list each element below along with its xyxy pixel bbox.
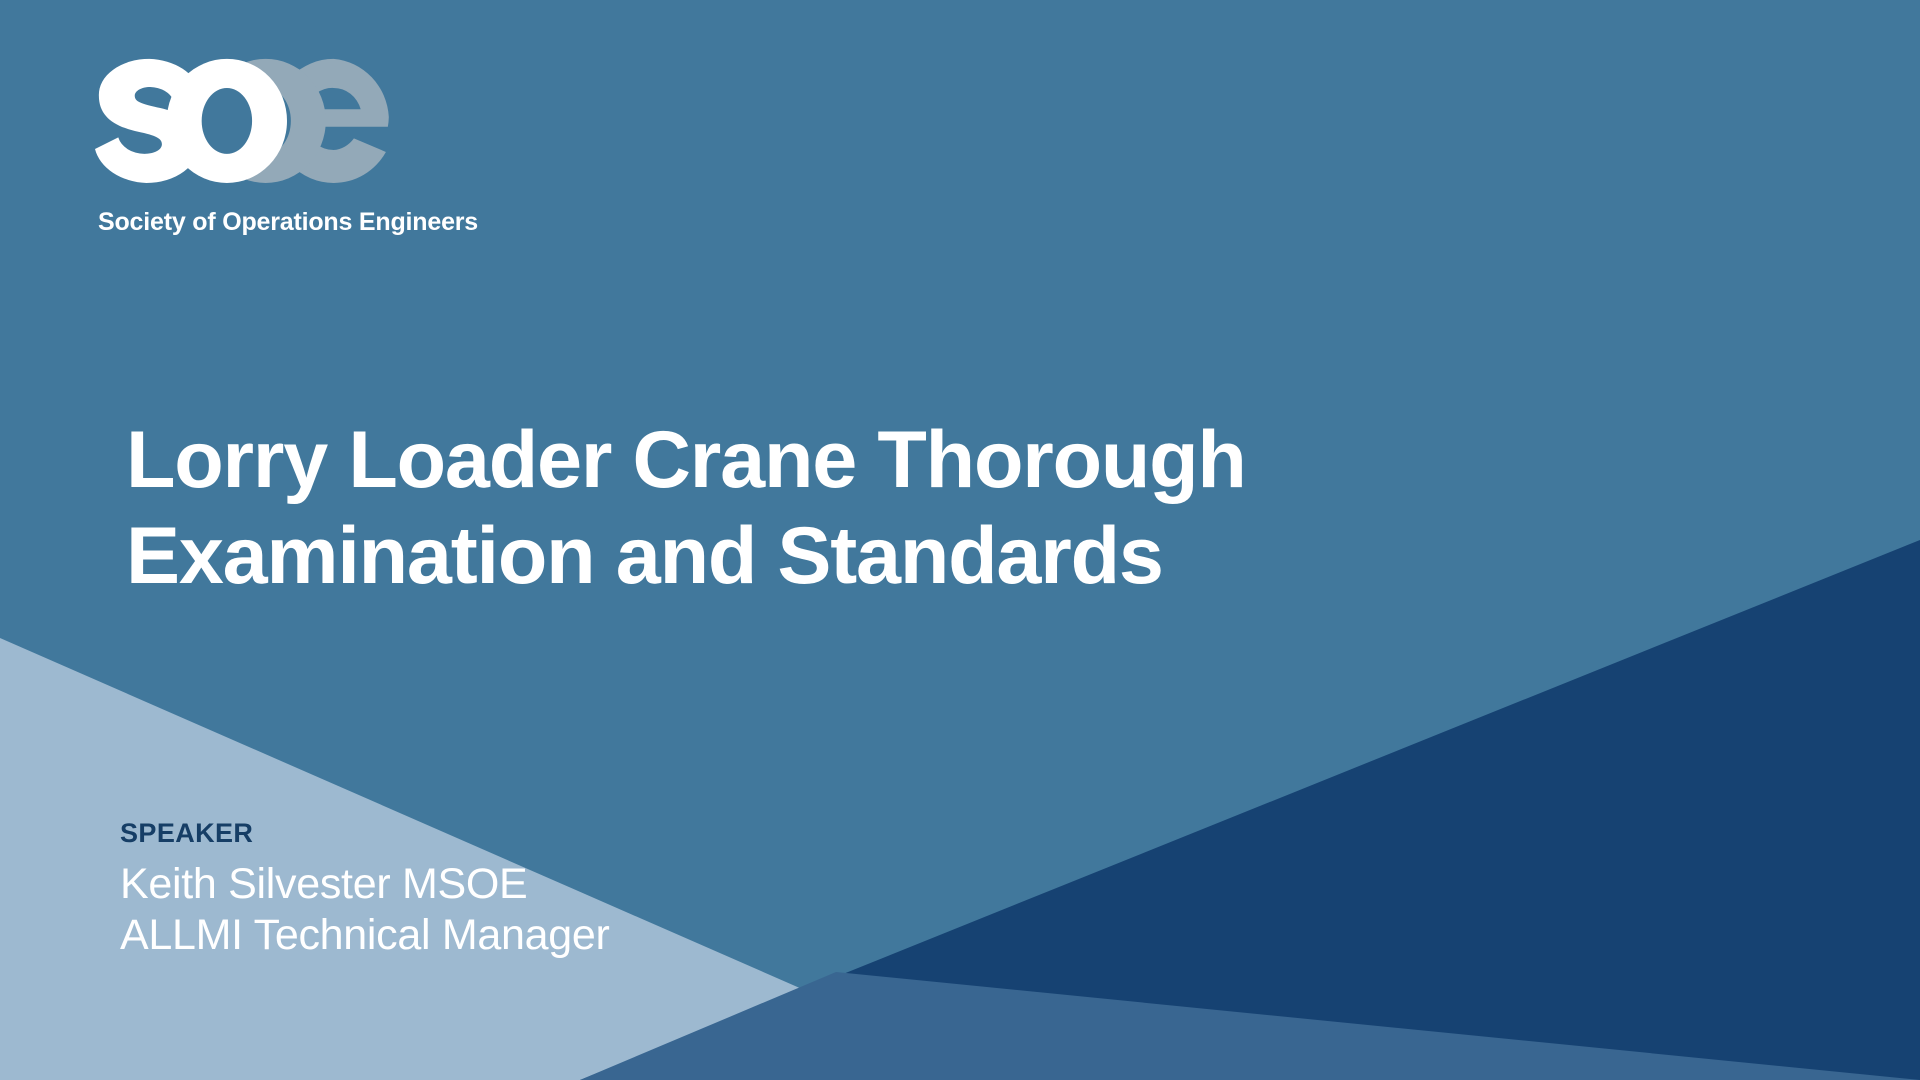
soe-wordmark-icon xyxy=(95,48,415,188)
logo-tagline: Society of Operations Engineers xyxy=(98,208,525,237)
logo-letter-s xyxy=(95,59,200,183)
title-slide: Society of Operations Engineers Lorry Lo… xyxy=(0,0,1920,1080)
dark-triangle xyxy=(580,540,1920,1080)
overlap-wedge xyxy=(580,972,1920,1080)
page-title: Lorry Loader Crane Thorough Examination … xyxy=(126,412,1586,605)
title-line-2: Examination and Standards xyxy=(126,508,1586,604)
title-line-1: Lorry Loader Crane Thorough xyxy=(126,412,1586,508)
speaker-name: Keith Silvester MSOE xyxy=(120,859,920,910)
speaker-label: SPEAKER xyxy=(120,818,920,849)
speaker-role: ALLMI Technical Manager xyxy=(120,910,920,961)
soe-logo: Society of Operations Engineers xyxy=(95,48,525,237)
speaker-block: SPEAKER Keith Silvester MSOE ALLMI Techn… xyxy=(120,818,920,960)
